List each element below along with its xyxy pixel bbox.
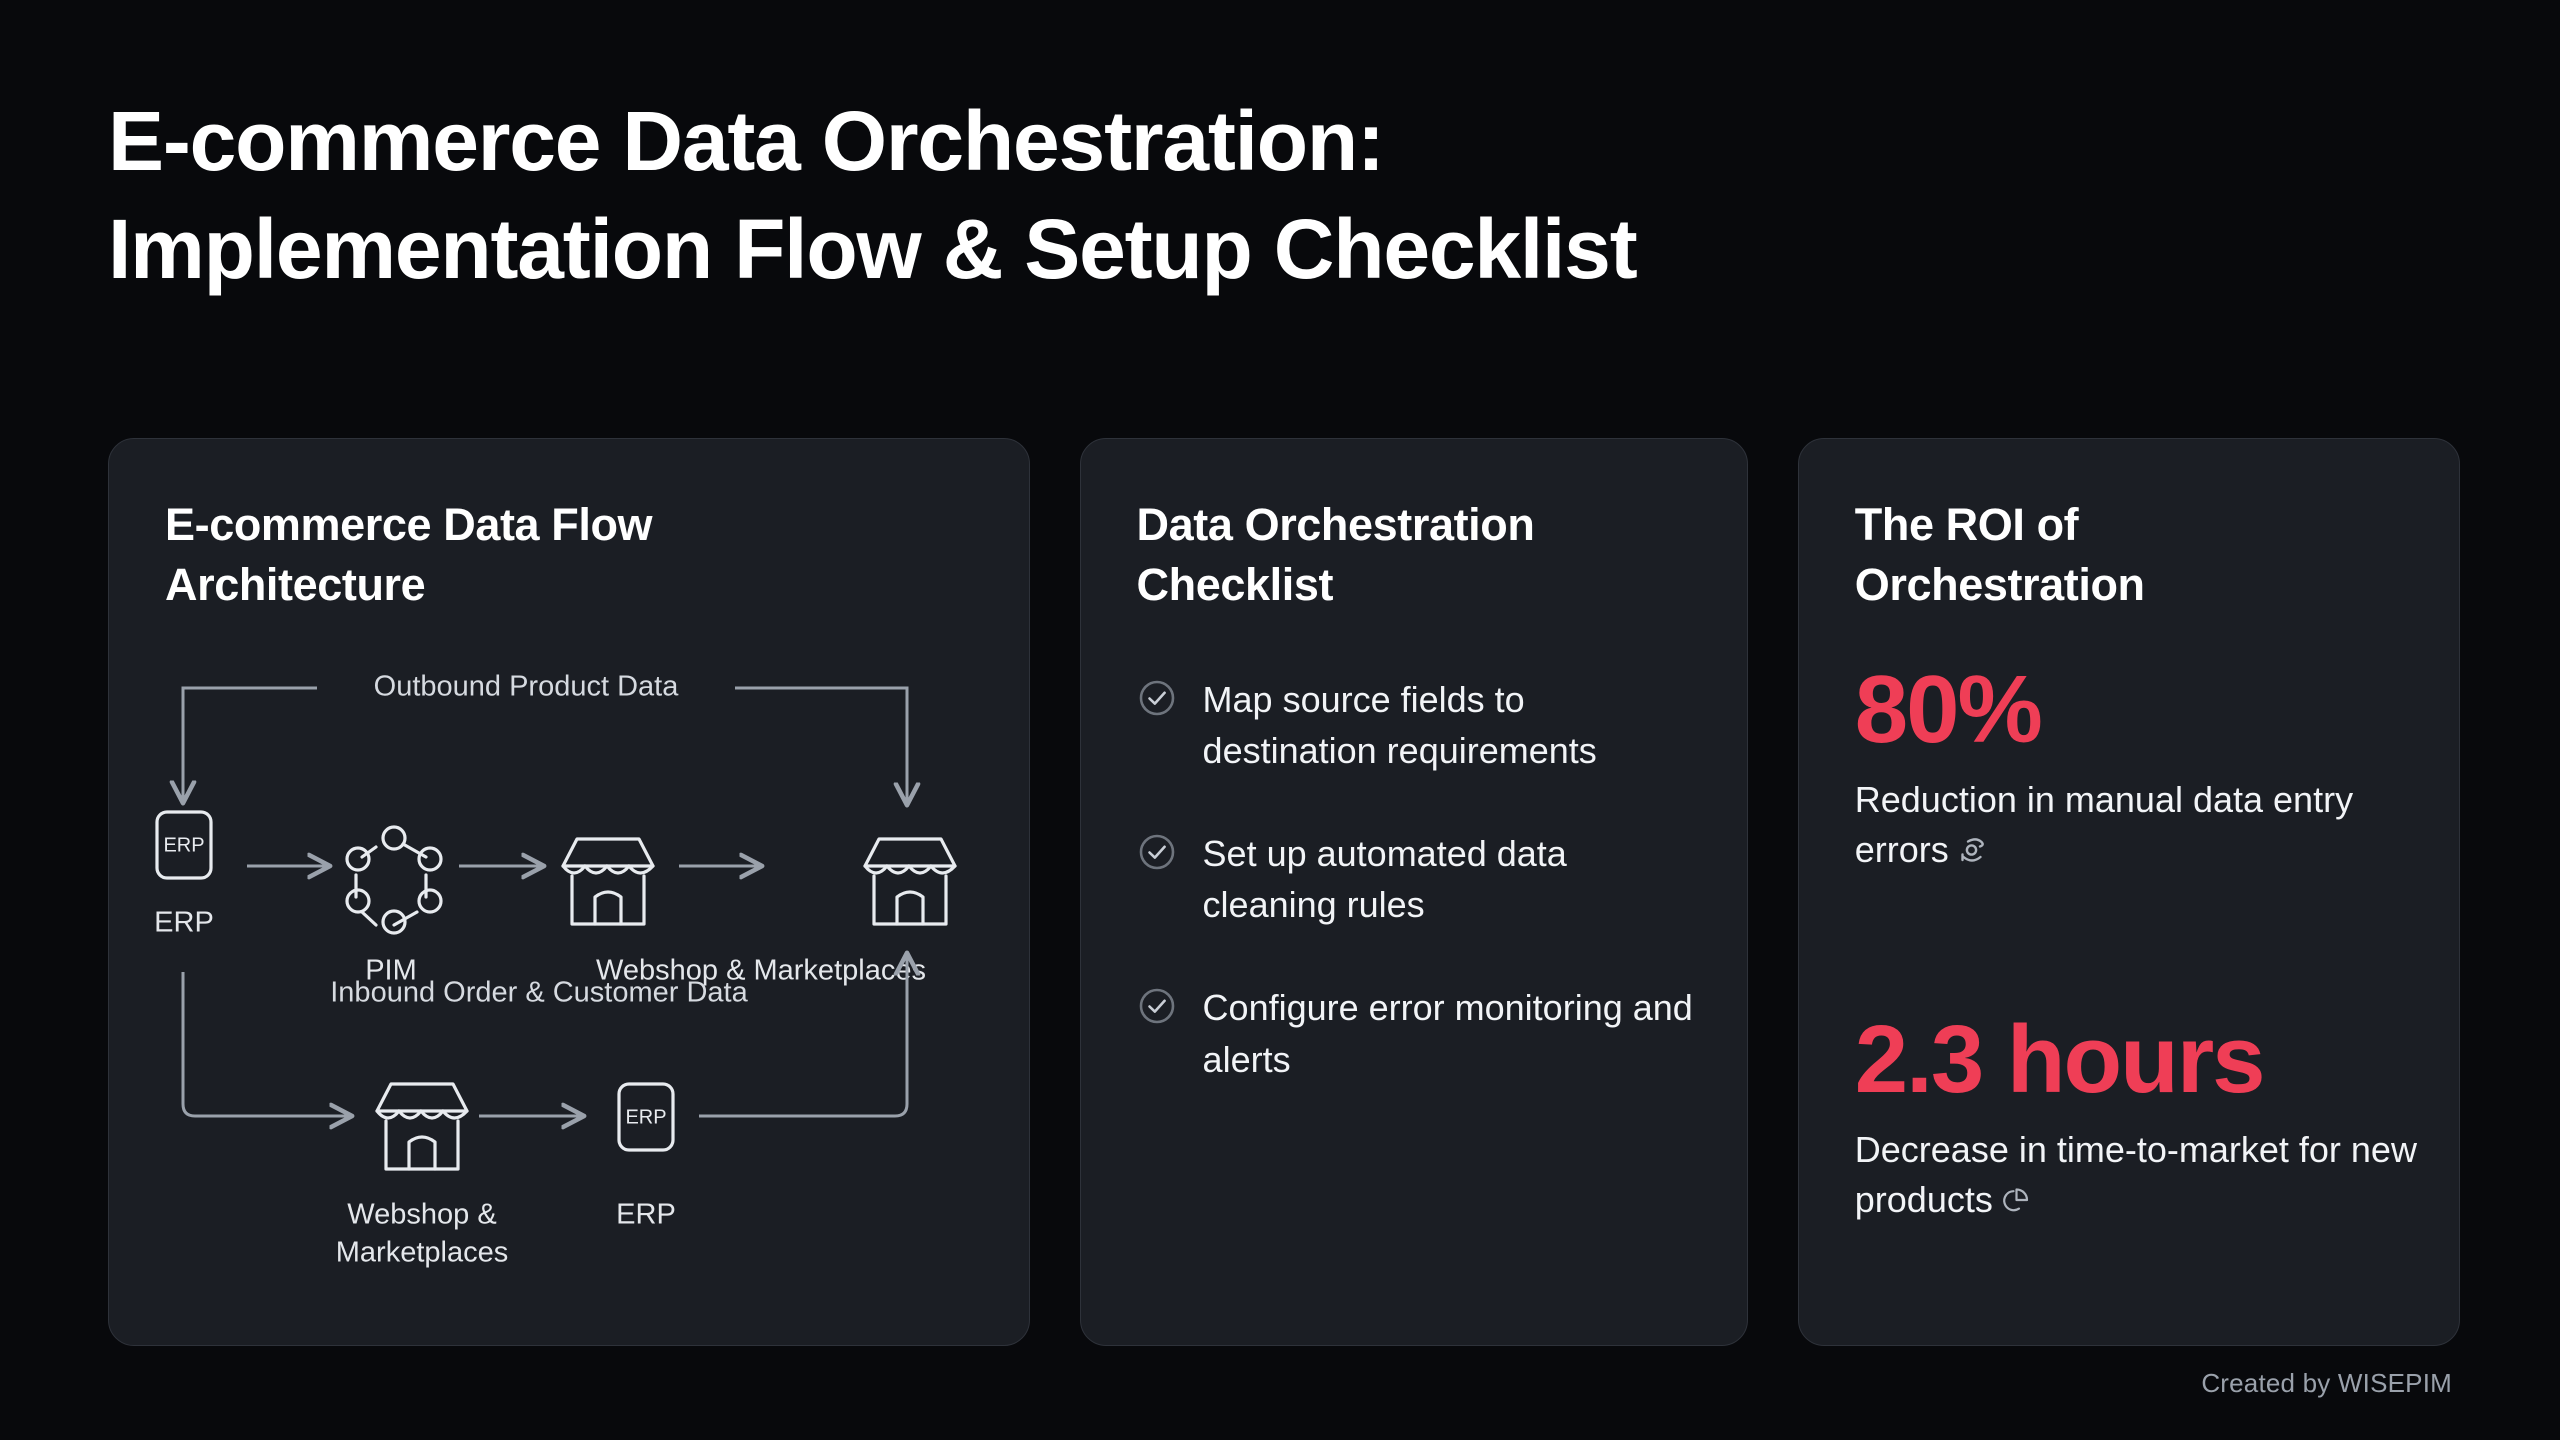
page-title: E-commerce Data Orchestration: Implement…	[108, 88, 2408, 303]
check-circle-icon	[1137, 832, 1177, 877]
card-roi-of-orchestration: The ROI of Orchestration 80% Reduction i…	[1798, 438, 2460, 1346]
flow-diagram-svg: Outbound Product Data	[139, 654, 1003, 1294]
check-circle-icon	[1137, 986, 1177, 1031]
page-title-line-2: Implementation Flow & Setup Checklist	[108, 196, 2408, 304]
checklist-item[interactable]: Map source fields to destination require…	[1137, 674, 1702, 776]
check-circle-icon	[1137, 678, 1177, 723]
card-data-flow-architecture: E-commerce Data Flow Architecture Outb	[108, 438, 1030, 1346]
card-title-checklist-line-2: Checklist	[1137, 555, 1535, 615]
gauge-icon	[1955, 830, 1989, 880]
card-title-roi: The ROI of Orchestration	[1855, 495, 2145, 615]
page-title-line-1: E-commerce Data Orchestration:	[108, 88, 2408, 196]
pim-icon	[347, 827, 441, 933]
roi-stat-description: Reduction in manual data entry errors	[1855, 779, 2353, 870]
footer-credit: Created by WISEPIM	[2201, 1368, 2452, 1399]
card-title-data-flow-line-2: Architecture	[165, 555, 652, 615]
checklist: Map source fields to destination require…	[1137, 674, 1702, 1085]
erp-box-icon-bottom: ERP	[619, 1084, 673, 1150]
checklist-item-label: Map source fields to destination require…	[1203, 674, 1702, 776]
erp-box-bottom-text: ERP	[625, 1106, 666, 1128]
card-title-data-flow-line-1: E-commerce Data Flow	[165, 495, 652, 555]
card-title-checklist: Data Orchestration Checklist	[1137, 495, 1535, 615]
checklist-item[interactable]: Configure error monitoring and alerts	[1137, 982, 1702, 1084]
roi-stat: 2.3 hours Decrease in time-to-market for…	[1855, 1011, 2425, 1229]
outbound-flow-label: Outbound Product Data	[374, 671, 680, 703]
webshop-bottom-node-label-2: Marketplaces	[336, 1237, 508, 1269]
webshop-bottom-node-label-1: Webshop &	[347, 1199, 496, 1231]
card-title-roi-line-1: The ROI of	[1855, 495, 2145, 555]
card-orchestration-checklist: Data Orchestration Checklist Map source …	[1080, 438, 1748, 1346]
erp-bottom-node-label: ERP	[616, 1199, 676, 1231]
erp-top-node-label: ERP	[154, 907, 214, 939]
erp-box-icon-top: ERP	[157, 812, 211, 878]
roi-stat-description: Decrease in time-to-market for new produ…	[1855, 1129, 2417, 1220]
checklist-item-label: Set up automated data cleaning rules	[1203, 828, 1702, 930]
card-title-checklist-line-1: Data Orchestration	[1137, 495, 1535, 555]
roi-stat-description-wrap: Reduction in manual data entry errors	[1855, 775, 2425, 879]
webshop-store-icon-top-1	[563, 839, 653, 924]
infographic-page: E-commerce Data Orchestration: Implement…	[0, 0, 2560, 1440]
card-title-data-flow: E-commerce Data Flow Architecture	[165, 495, 652, 615]
pie-chart-icon	[1999, 1180, 2033, 1230]
cards-row: E-commerce Data Flow Architecture Outb	[108, 438, 2460, 1346]
inbound-flow-label: Inbound Order & Customer Data	[330, 977, 748, 1009]
checklist-item[interactable]: Set up automated data cleaning rules	[1137, 828, 1702, 930]
roi-stat: 80% Reduction in manual data entry error…	[1855, 661, 2425, 879]
erp-box-top-text: ERP	[163, 834, 204, 856]
card-title-roi-line-2: Orchestration	[1855, 555, 2145, 615]
webshop-store-icon-top-2	[865, 839, 955, 924]
roi-stat-value: 2.3 hours	[1855, 1011, 2425, 1109]
checklist-item-label: Configure error monitoring and alerts	[1203, 982, 1702, 1084]
roi-stat-description-wrap: Decrease in time-to-market for new produ…	[1855, 1125, 2425, 1229]
data-flow-diagram: Outbound Product Data	[139, 654, 1003, 1294]
roi-stat-value: 80%	[1855, 661, 2425, 759]
webshop-store-icon-bottom	[377, 1084, 467, 1169]
